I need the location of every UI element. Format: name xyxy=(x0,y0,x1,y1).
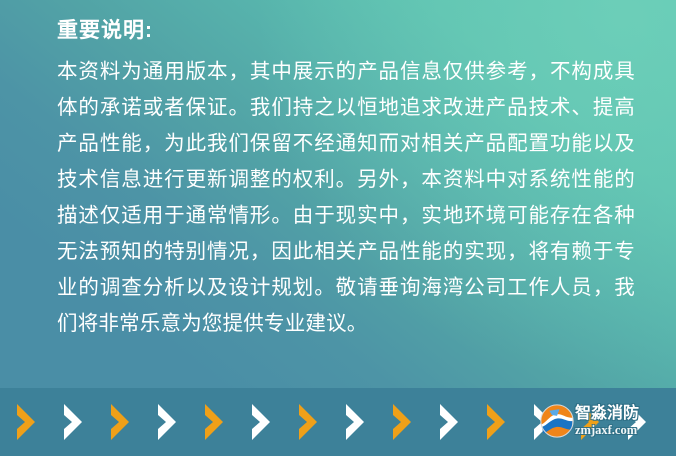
watermark-brand-name: 智淼消防 xyxy=(575,406,639,422)
chevron-right-icon xyxy=(437,403,466,441)
watermark-text: 智淼消防 zmjaxf.com xyxy=(575,406,639,437)
slide-content: 重要说明: 本资料为通用版本，其中展示的产品信息仅供参考，不构成具体的承诺或者保… xyxy=(57,16,636,342)
zmjaxf-logo-icon xyxy=(540,404,574,438)
watermark-url: zmjaxf.com xyxy=(575,424,639,437)
chevron-right-icon xyxy=(14,403,43,441)
page-title: 重要说明: xyxy=(57,16,636,46)
chevron-right-icon xyxy=(296,403,325,441)
chevron-right-icon xyxy=(108,403,137,441)
chevron-right-icon xyxy=(390,403,419,441)
chevron-right-icon xyxy=(484,403,513,441)
chevron-right-icon xyxy=(343,403,372,441)
watermark-logo: 智淼消防 zmjaxf.com xyxy=(540,397,664,445)
chevron-right-icon xyxy=(202,403,231,441)
bottom-banner: 智淼消防 zmjaxf.com xyxy=(0,388,676,456)
chevron-right-icon xyxy=(61,403,90,441)
disclaimer-slide: 重要说明: 本资料为通用版本，其中展示的产品信息仅供参考，不构成具体的承诺或者保… xyxy=(0,0,676,456)
chevron-right-icon xyxy=(155,403,184,441)
disclaimer-body-text: 本资料为通用版本，其中展示的产品信息仅供参考，不构成具体的承诺或者保证。我们持之… xyxy=(57,54,635,342)
chevron-right-icon xyxy=(249,403,278,441)
